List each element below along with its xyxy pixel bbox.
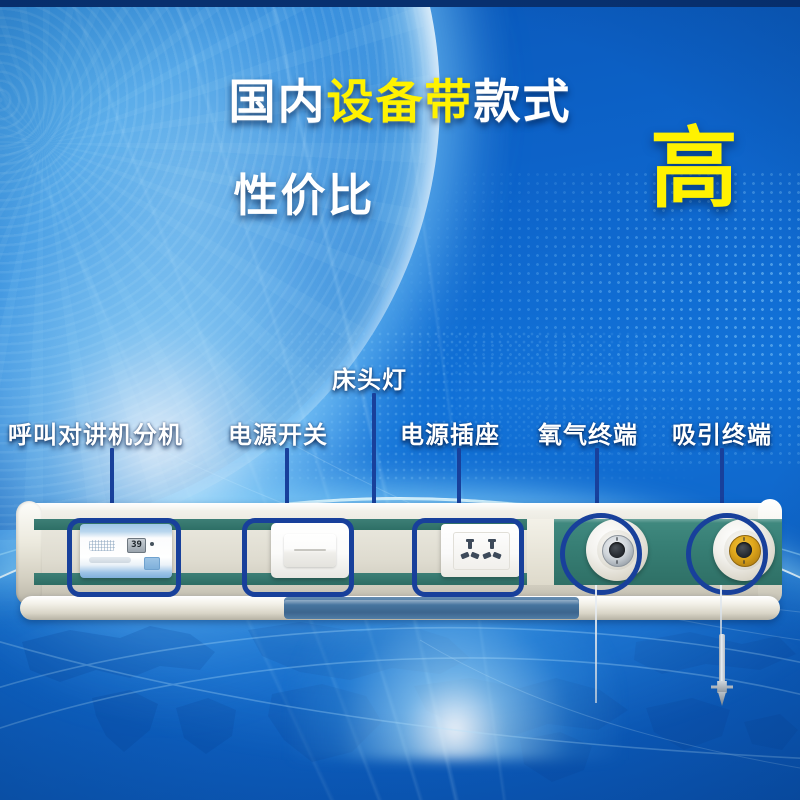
- cord-layer: [0, 0, 800, 800]
- oxygen-hose-cord: [595, 585, 597, 703]
- suction-hose-cord: [720, 585, 722, 637]
- promo-banner: 国内设备带款式 性价比 高 呼叫对讲机分机 电源开关 床头灯 电源插座 氧气终端…: [0, 0, 800, 800]
- pull-switch-tip: [718, 692, 726, 706]
- pull-switch-handle[interactable]: [711, 681, 733, 693]
- pull-switch-rod[interactable]: [719, 634, 725, 688]
